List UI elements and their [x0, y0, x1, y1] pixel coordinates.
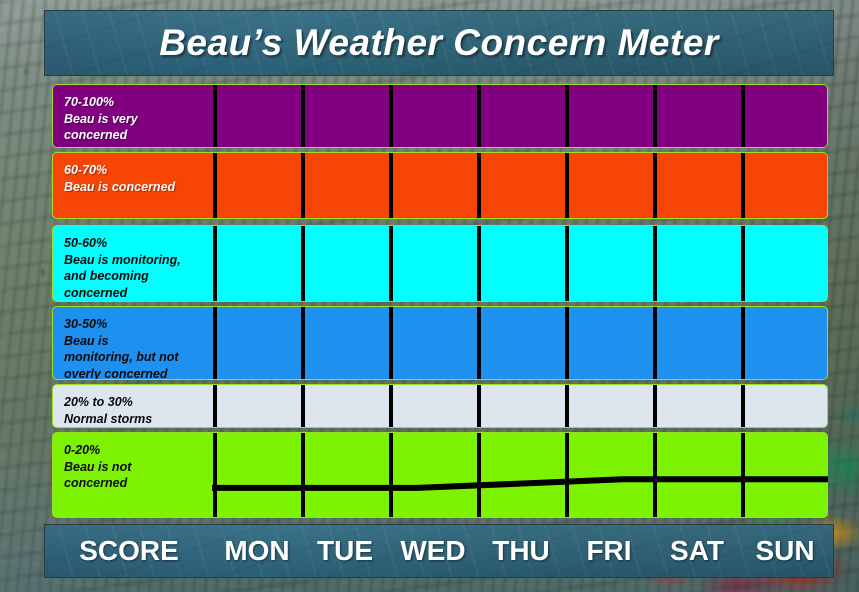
- concern-band-4: 20% to 30% Normal storms: [52, 384, 828, 428]
- band-label: 50-60% Beau is monitoring, and becoming …: [64, 235, 181, 301]
- concern-band-0: 70-100% Beau is very concerned: [52, 84, 828, 148]
- score-label: SCORE: [45, 535, 213, 567]
- day-header-bar: SCORE MONTUEWEDTHUFRISATSUN: [44, 524, 834, 578]
- column-gridlines: [53, 85, 827, 147]
- day-header-tue: TUE: [301, 535, 389, 567]
- band-label: 60-70% Beau is concerned: [64, 162, 175, 195]
- concern-band-1: 60-70% Beau is concerned: [52, 152, 828, 219]
- concern-band-2: 50-60% Beau is monitoring, and becoming …: [52, 225, 828, 302]
- page-title: Beau’s Weather Concern Meter: [159, 22, 719, 64]
- title-bar: Beau’s Weather Concern Meter: [44, 10, 834, 76]
- column-gridlines: [53, 385, 827, 427]
- band-label: 30-50% Beau is monitoring, but not overl…: [64, 316, 179, 380]
- day-header-mon: MON: [213, 535, 301, 567]
- band-label: 0-20% Beau is not concerned: [64, 442, 131, 492]
- day-header-fri: FRI: [565, 535, 653, 567]
- concern-band-5: 0-20% Beau is not concerned: [52, 432, 828, 518]
- day-header-thu: THU: [477, 535, 565, 567]
- band-label: 20% to 30% Normal storms: [64, 394, 152, 427]
- day-header-sat: SAT: [653, 535, 741, 567]
- column-gridlines: [53, 433, 827, 517]
- concern-meter-bands: 70-100% Beau is very concerned60-70% Bea…: [52, 84, 828, 518]
- day-header-sun: SUN: [741, 535, 829, 567]
- band-label: 70-100% Beau is very concerned: [64, 94, 138, 144]
- day-header-wed: WED: [389, 535, 477, 567]
- concern-band-3: 30-50% Beau is monitoring, but not overl…: [52, 306, 828, 380]
